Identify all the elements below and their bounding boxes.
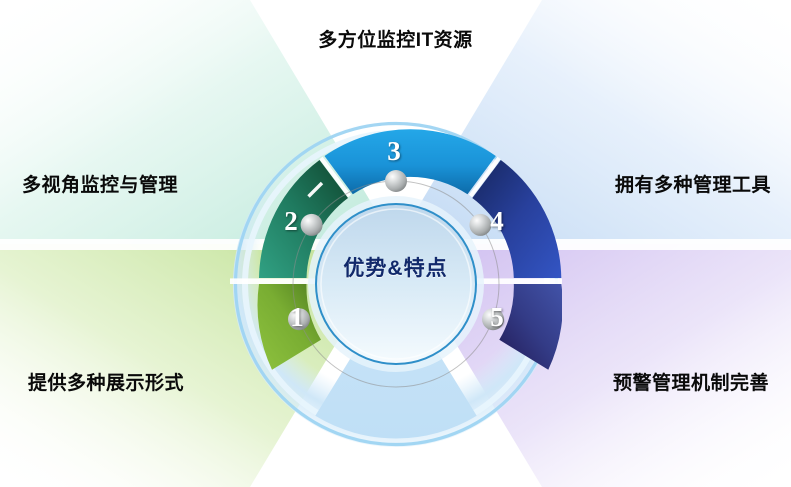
callout-right-bottom: 预警管理机制完善	[613, 368, 769, 395]
callout-right-top: 拥有多种管理工具	[615, 170, 771, 197]
infographic-canvas: 优势&特点 1 2 3 4 5 多方位监控IT资源 多视角监控与管理 提供多种展…	[0, 0, 791, 487]
marker-sphere-2[interactable]	[301, 214, 323, 236]
inner-disc	[316, 204, 476, 364]
callout-left-bottom: 提供多种展示形式	[28, 368, 184, 395]
marker-sphere-5[interactable]	[482, 308, 504, 330]
callout-top: 多方位监控IT资源	[0, 25, 791, 52]
marker-sphere-1[interactable]	[288, 308, 310, 330]
marker-sphere-4[interactable]	[469, 214, 491, 236]
donut-svg	[230, 118, 562, 450]
segmented-donut	[230, 118, 562, 450]
marker-sphere-3[interactable]	[385, 170, 407, 192]
callout-left-top: 多视角监控与管理	[22, 170, 178, 197]
